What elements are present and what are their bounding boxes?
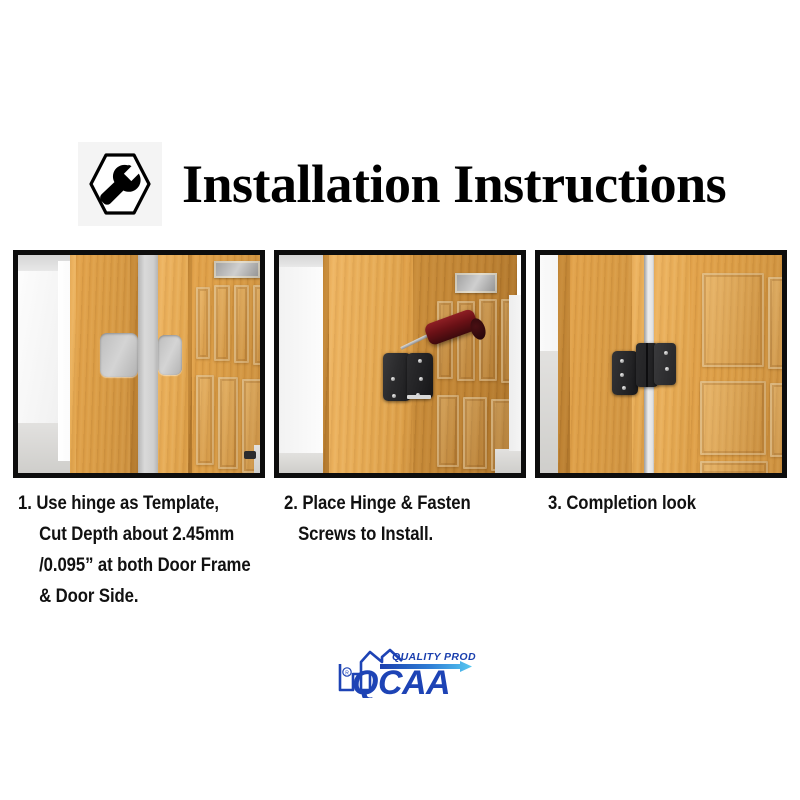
registered-mark: R	[343, 668, 351, 677]
caption-3-line-1: 3. Completion look	[548, 488, 800, 519]
caption-1-line-4: & Door Side.	[18, 581, 308, 612]
panel-2-scene	[279, 255, 521, 473]
header: Installation Instructions	[78, 138, 726, 230]
logo-tagline: QUALITY PRODUCTS	[392, 651, 476, 663]
qcaa-logo: R QUALITY PRODUCTS QCAA	[336, 640, 476, 698]
panel-3-scene	[540, 255, 782, 473]
step-image-2	[274, 250, 526, 478]
hexagon-wrench-icon	[78, 142, 162, 226]
step-image-3	[535, 250, 787, 478]
caption-1-line-2: Cut Depth about 2.45mm	[18, 519, 308, 550]
svg-text:R: R	[345, 670, 349, 676]
panel-1-scene	[18, 255, 260, 473]
caption-1-line-1: 1. Use hinge as Template,	[18, 488, 308, 519]
caption-1-line-3: /0.095” at both Door Frame	[18, 550, 308, 581]
logo-wordmark: QCAA	[352, 664, 450, 698]
caption-step-2: 2. Place Hinge & Fasten Screws to Instal…	[284, 488, 548, 550]
caption-2-line-2: Screws to Install.	[284, 519, 548, 550]
caption-step-1: 1. Use hinge as Template, Cut Depth abou…	[18, 488, 308, 612]
page-title: Installation Instructions	[182, 157, 726, 211]
caption-2-line-1: 2. Place Hinge & Fasten	[284, 488, 548, 519]
caption-step-3: 3. Completion look	[548, 488, 800, 519]
step-image-1	[13, 250, 265, 478]
